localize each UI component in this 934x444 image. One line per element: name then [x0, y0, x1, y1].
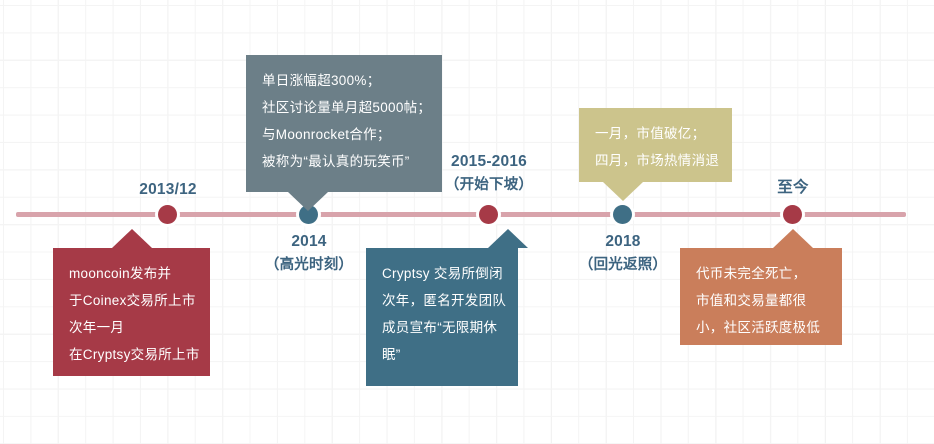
card-pointer-2014: [288, 192, 328, 211]
milestone-year-2015-2016: 2015-2016: [419, 150, 559, 174]
card-line: 次年一月: [69, 314, 194, 341]
card-line: 与Moonrocket合作；: [262, 121, 426, 148]
milestone-label-2013-12: 2013/12: [108, 178, 228, 202]
milestone-card-2018: 一月，市值破亿； 四月，市场热情消退: [579, 108, 732, 182]
card-pointer-2015-2016: [488, 229, 528, 248]
timeline-dot-2015-2016[interactable]: [479, 205, 498, 224]
milestone-year-2018: 2018: [563, 230, 683, 254]
card-pointer-2013-12: [112, 229, 152, 248]
milestone-card-2013-12: mooncoin发布并 于Coinex交易所上市 次年一月 在Cryptsy交易…: [53, 248, 210, 376]
card-line: 在Cryptsy交易所上市: [69, 341, 194, 368]
milestone-card-2014: 单日涨幅超300%； 社区讨论量单月超5000帖； 与Moonrocket合作；…: [246, 55, 442, 192]
card-line: 次年，匿名开发团队: [382, 287, 502, 314]
card-line: 眠”: [382, 341, 502, 368]
card-line: 单日涨幅超300%；: [262, 67, 426, 94]
milestone-year-2014: 2014: [249, 230, 369, 254]
card-pointer-2018: [603, 182, 643, 201]
milestone-label-2014: 2014 （高光时刻）: [249, 230, 369, 276]
card-line: 成员宣布“无限期休: [382, 314, 502, 341]
milestone-sub-2018: （回光返照）: [563, 254, 683, 276]
card-line: 社区讨论量单月超5000帖；: [262, 94, 426, 121]
milestone-label-present: 至今: [733, 176, 853, 200]
card-line: 代币未完全死亡，: [696, 260, 826, 287]
card-line: 小，社区活跃度极低: [696, 314, 826, 341]
card-line: mooncoin发布并: [69, 260, 194, 287]
card-line: Cryptsy 交易所倒闭: [382, 260, 502, 287]
milestone-card-present: 代币未完全死亡， 市值和交易量都很 小，社区活跃度极低: [680, 248, 842, 345]
timeline-dot-2018[interactable]: [613, 205, 632, 224]
timeline-dot-present[interactable]: [783, 205, 802, 224]
card-pointer-present: [773, 229, 813, 248]
card-line: 于Coinex交易所上市: [69, 287, 194, 314]
timeline-axis: [16, 212, 906, 217]
milestone-label-2015-2016: 2015-2016 （开始下坡）: [419, 150, 559, 196]
card-line: 被称为“最认真的玩笑币”: [262, 148, 426, 175]
card-line: 一月，市值破亿；: [595, 120, 716, 147]
card-line: 市值和交易量都很: [696, 287, 826, 314]
card-line: 四月，市场热情消退: [595, 147, 716, 174]
milestone-card-2015-2016: Cryptsy 交易所倒闭 次年，匿名开发团队 成员宣布“无限期休 眠”: [366, 248, 518, 386]
milestone-label-2018: 2018 （回光返照）: [563, 230, 683, 276]
milestone-sub-2015-2016: （开始下坡）: [419, 174, 559, 196]
milestone-sub-2014: （高光时刻）: [249, 254, 369, 276]
milestone-year-2013-12: 2013/12: [108, 178, 228, 202]
milestone-year-present: 至今: [733, 176, 853, 200]
timeline-canvas: 2013/12 mooncoin发布并 于Coinex交易所上市 次年一月 在C…: [0, 0, 934, 444]
timeline-dot-2013-12[interactable]: [158, 205, 177, 224]
